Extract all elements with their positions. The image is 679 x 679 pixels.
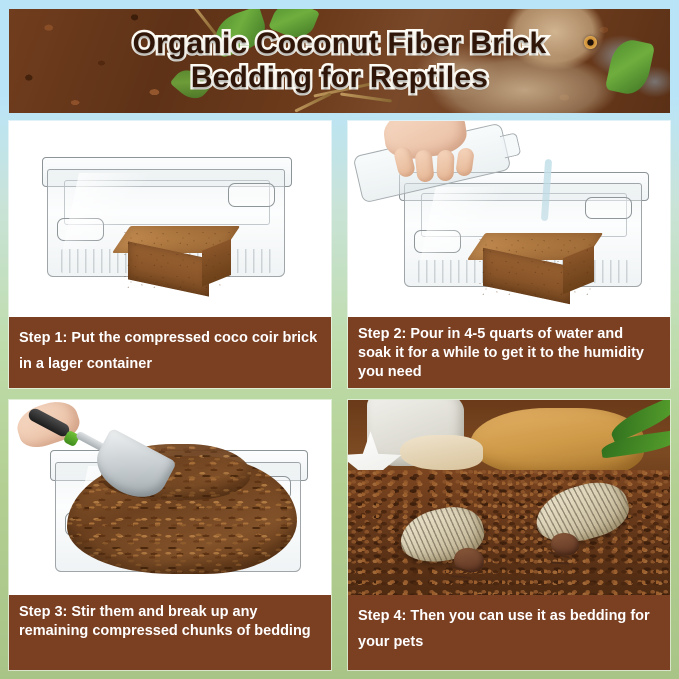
coral-sand-decor: [400, 435, 484, 470]
terrarium-scene: [348, 400, 670, 595]
step-2-caption: Step 2: Pour in 4-5 quarts of water and …: [348, 317, 670, 388]
step-4-caption: Step 4: Then you can use it as bedding f…: [348, 595, 670, 670]
brick-fiber-grain: [121, 226, 231, 288]
step-card-4: Step 4: Then you can use it as bedding f…: [348, 400, 670, 670]
coir-brick: [121, 226, 231, 288]
step-card-3: Step 3: Stir them and break up any remai…: [9, 400, 331, 670]
product-infographic: Organic Coconut Fiber Brick Bedding for …: [0, 0, 679, 679]
step-card-1: Step 1: Put the compressed coco coir bri…: [9, 121, 331, 388]
step-3-caption: Step 3: Stir them and break up any remai…: [9, 595, 331, 670]
step-4-photo: [348, 400, 670, 595]
header-banner: Organic Coconut Fiber Brick Bedding for …: [9, 9, 670, 113]
page-title-line-1: Organic Coconut Fiber Brick: [23, 27, 656, 61]
brick-fiber-grain: [476, 233, 594, 295]
step-1-caption: Step 1: Put the compressed coco coir bri…: [9, 317, 331, 388]
bin-handle-right: [585, 197, 632, 220]
bin-handle-right: [228, 183, 275, 207]
coir-bedding-ground: [348, 470, 670, 595]
finger: [436, 150, 454, 182]
step-3-photo: [9, 400, 331, 595]
page-title: Organic Coconut Fiber Brick Bedding for …: [9, 27, 670, 95]
steps-grid: Step 1: Put the compressed coco coir bri…: [9, 121, 670, 670]
bottle-neck: [500, 132, 522, 158]
step-1-photo: [9, 121, 331, 317]
page-title-line-2: Bedding for Reptiles: [23, 61, 656, 95]
finger: [414, 149, 434, 183]
step-card-2: Step 2: Pour in 4-5 quarts of water and …: [348, 121, 670, 388]
step-2-photo: [348, 121, 670, 317]
coir-brick: [476, 233, 594, 295]
